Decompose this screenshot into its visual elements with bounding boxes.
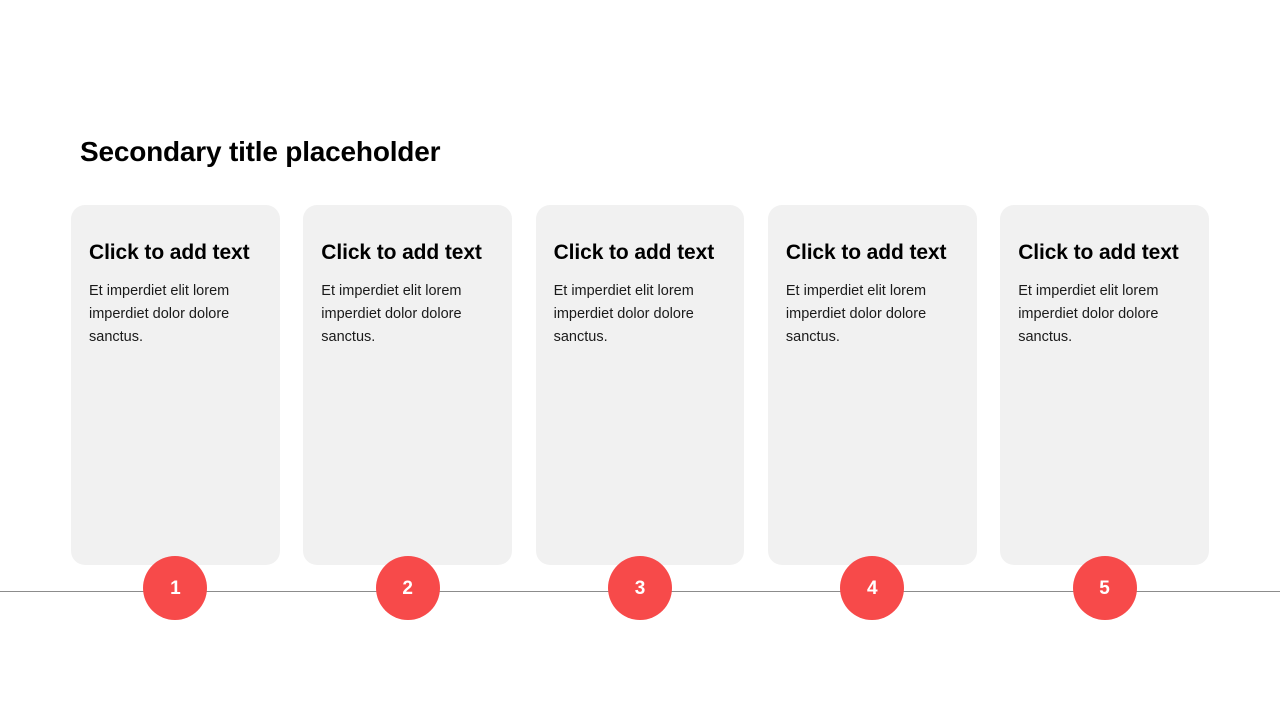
marker-slot-1: 1: [71, 556, 280, 620]
timeline-card-1[interactable]: Click to add text Et imperdiet elit lore…: [71, 205, 280, 565]
slide-canvas: Secondary title placeholder Click to add…: [0, 0, 1280, 720]
card-heading[interactable]: Click to add text: [786, 235, 959, 270]
timeline-card-2[interactable]: Click to add text Et imperdiet elit lore…: [303, 205, 512, 565]
card-body-text[interactable]: Et imperdiet elit lorem imperdiet dolor …: [321, 280, 494, 349]
step-number-badge-5[interactable]: 5: [1073, 556, 1137, 620]
timeline-cards-row: Click to add text Et imperdiet elit lore…: [71, 205, 1209, 565]
card-heading[interactable]: Click to add text: [554, 235, 727, 270]
marker-slot-3: 3: [536, 556, 745, 620]
card-body-text[interactable]: Et imperdiet elit lorem imperdiet dolor …: [89, 280, 262, 349]
marker-slot-5: 5: [1000, 556, 1209, 620]
timeline-card-5[interactable]: Click to add text Et imperdiet elit lore…: [1000, 205, 1209, 565]
page-title[interactable]: Secondary title placeholder: [80, 133, 440, 171]
step-number-badge-4[interactable]: 4: [840, 556, 904, 620]
card-heading[interactable]: Click to add text: [1018, 235, 1191, 270]
card-body-text[interactable]: Et imperdiet elit lorem imperdiet dolor …: [554, 280, 727, 349]
step-number-badge-2[interactable]: 2: [376, 556, 440, 620]
card-body-text[interactable]: Et imperdiet elit lorem imperdiet dolor …: [1018, 280, 1191, 349]
step-number-badge-3[interactable]: 3: [608, 556, 672, 620]
marker-slot-2: 2: [303, 556, 512, 620]
step-number-badge-1[interactable]: 1: [143, 556, 207, 620]
timeline-card-3[interactable]: Click to add text Et imperdiet elit lore…: [536, 205, 745, 565]
card-heading[interactable]: Click to add text: [89, 235, 262, 270]
timeline-markers-row: 1 2 3 4 5: [71, 556, 1209, 620]
card-body-text[interactable]: Et imperdiet elit lorem imperdiet dolor …: [786, 280, 959, 349]
timeline-card-4[interactable]: Click to add text Et imperdiet elit lore…: [768, 205, 977, 565]
card-heading[interactable]: Click to add text: [321, 235, 494, 270]
marker-slot-4: 4: [768, 556, 977, 620]
